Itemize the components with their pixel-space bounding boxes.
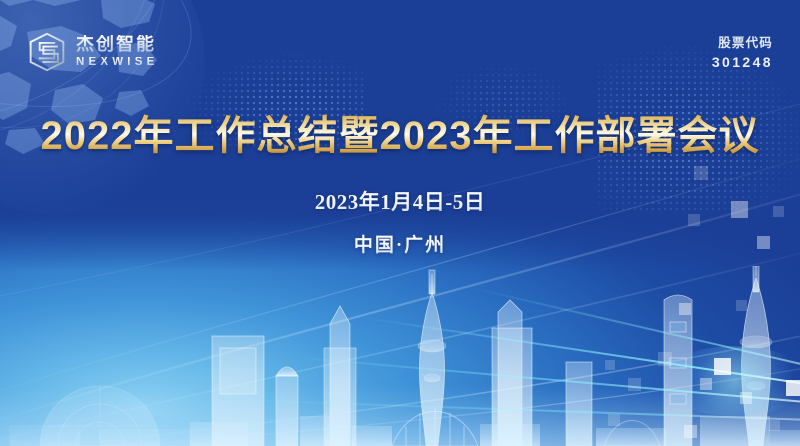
stock-code-block: 股票代码 301248 bbox=[712, 34, 773, 72]
decor-square bbox=[769, 420, 780, 431]
decor-square bbox=[736, 300, 747, 311]
stock-code-value: 301248 bbox=[712, 52, 773, 72]
brand-name-en: NEXWISE bbox=[76, 57, 158, 69]
decor-square bbox=[628, 378, 641, 391]
decor-square bbox=[608, 414, 620, 426]
stock-code-label: 股票代码 bbox=[712, 34, 773, 52]
decor-square bbox=[740, 392, 752, 404]
presentation-slide: 杰创智能 NEXWISE 股票代码 301248 2022年工作总结暨2023年… bbox=[0, 0, 800, 446]
decor-square bbox=[786, 380, 800, 396]
brand-logo: 杰创智能 NEXWISE bbox=[27, 31, 158, 73]
decor-square bbox=[658, 352, 672, 366]
decor-square bbox=[605, 360, 615, 370]
decor-square bbox=[684, 425, 697, 438]
event-date: 2023年1月4日-5日 bbox=[0, 186, 800, 216]
light-glow bbox=[660, 346, 800, 416]
event-location: 中国·广州 bbox=[0, 230, 800, 257]
brand-name-cn: 杰创智能 bbox=[76, 35, 158, 53]
page-title: 2022年工作总结暨2023年工作部署会议 bbox=[0, 103, 800, 161]
decor-square bbox=[694, 166, 708, 180]
decor-square bbox=[679, 303, 691, 315]
decor-square bbox=[700, 378, 712, 390]
nexwise-cube-logo-icon bbox=[27, 31, 67, 73]
decor-square bbox=[714, 358, 731, 375]
